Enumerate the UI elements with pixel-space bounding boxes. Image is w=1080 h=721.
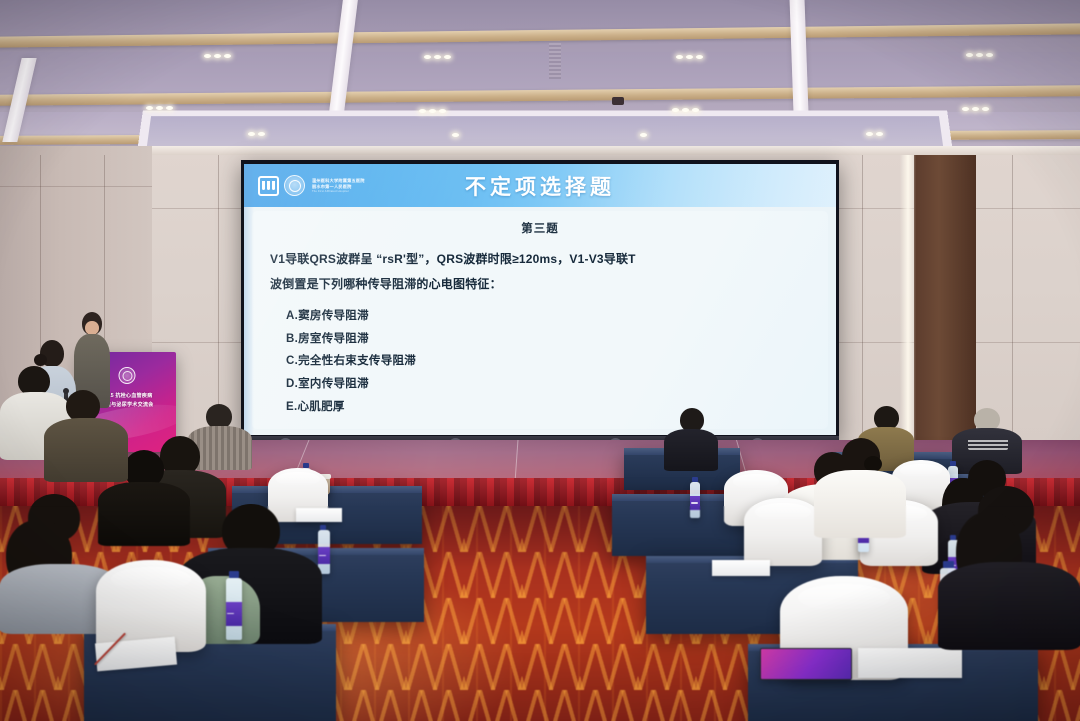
bottle-cap [229, 571, 239, 578]
ceiling-spotlight [224, 54, 231, 58]
projection-screen[interactable]: 温州医科大学附属第五医院 丽水市第一人民医院 The First Affilia… [241, 160, 839, 439]
water-bottle[interactable] [690, 482, 700, 518]
ceiling-spotlight [696, 55, 703, 59]
ceiling [0, 0, 1080, 152]
chair[interactable] [744, 498, 822, 566]
ceiling-spotlight [214, 54, 221, 58]
ceiling-spotlight [156, 106, 163, 110]
ceiling-spotlight [166, 106, 173, 110]
ceiling-air-vent [549, 43, 561, 79]
ceiling-spotlight [866, 132, 873, 136]
ceiling-spotlight [439, 109, 446, 113]
organization-seal-icon [119, 367, 136, 384]
ceiling-spotlight [682, 108, 689, 112]
attendee-torso [938, 562, 1080, 650]
ceiling-spotlight [972, 107, 979, 111]
ceiling-spotlight [966, 53, 973, 57]
ceiling-spotlight [434, 55, 441, 59]
bottle-cap [692, 477, 698, 482]
wall-cornice [0, 146, 1080, 155]
ceiling-spotlight [419, 109, 426, 113]
attendee-torso [814, 470, 906, 538]
handout-paper [858, 648, 962, 678]
option-c[interactable]: C.完全性右束支传导阻滞 [286, 350, 810, 373]
tablet-device[interactable] [760, 648, 852, 680]
bottle-label [690, 496, 700, 510]
ceiling-spotlight [962, 107, 969, 111]
option-e[interactable]: E.心肌肥厚 [286, 396, 810, 419]
slide-content-card: 第三题 V1导联QRS波群呈 “rsR'型”，QRS波群时限≥120ms，V1-… [252, 211, 828, 429]
attendee-far-left-2 [44, 390, 128, 480]
ceiling-spotlight [204, 54, 211, 58]
ceiling-spotlight [976, 53, 983, 57]
jacket-print [968, 438, 1008, 450]
ceiling-spotlight [640, 133, 647, 137]
question-line-2: 波倒置是下列哪种传导阻滞的心电图特征： [270, 272, 810, 297]
ceiling-projector-mount [612, 97, 624, 105]
attendee-back-right-2 [952, 408, 1022, 468]
option-a[interactable]: A.窦房传导阻滞 [286, 305, 810, 328]
slide-title: 不定项选择题 [244, 171, 836, 201]
ceiling-spotlight [672, 108, 679, 112]
water-bottle[interactable] [226, 578, 242, 640]
ceiling-spotlight [429, 109, 436, 113]
ceiling-spotlight [876, 132, 883, 136]
ceiling-spotlight [676, 55, 683, 59]
attendee-row3-right [926, 486, 1080, 646]
option-d[interactable]: D.室内传导阻滞 [286, 373, 810, 396]
attendee-mid-right [814, 438, 906, 534]
presenter-face [85, 321, 99, 335]
hair-bun [34, 354, 47, 366]
question-line-1: V1导联QRS波群呈 “rsR'型”，QRS波群时限≥120ms，V1-V3导联… [270, 247, 810, 272]
attendee-torso [44, 418, 128, 482]
ceiling-spotlight [258, 132, 265, 136]
ceiling-spotlight [146, 106, 153, 110]
slide-surface: 温州医科大学附属第五医院 丽水市第一人民医院 The First Affilia… [244, 164, 836, 435]
ceiling-spotlight [444, 55, 451, 59]
slide-header: 温州医科大学附属第五医院 丽水市第一人民医院 The First Affilia… [244, 164, 836, 207]
attendee-torso [664, 429, 718, 471]
ceiling-spotlight [248, 132, 255, 136]
handout-paper [712, 560, 770, 576]
ceiling-spotlight [424, 55, 431, 59]
conference-hall-scene: 温州医科大学附属第五医院 丽水市第一人民医院 The First Affilia… [0, 0, 1080, 721]
answer-options: A.窦房传导阻滞 B.房室传导阻滞 C.完全性右束支传导阻滞 D.室内传导阻滞 … [270, 305, 810, 418]
attendee-back-center [664, 408, 718, 464]
option-b[interactable]: B.房室传导阻滞 [286, 328, 810, 351]
ceiling-spotlight [986, 53, 993, 57]
bottle-label [226, 602, 242, 627]
ceiling-spotlight [686, 55, 693, 59]
ceiling-spotlight [982, 107, 989, 111]
wall-panel-seam [0, 186, 152, 187]
question-number: 第三题 [270, 220, 810, 236]
ceiling-spotlight [452, 133, 459, 137]
ceiling-spotlight [692, 108, 699, 112]
